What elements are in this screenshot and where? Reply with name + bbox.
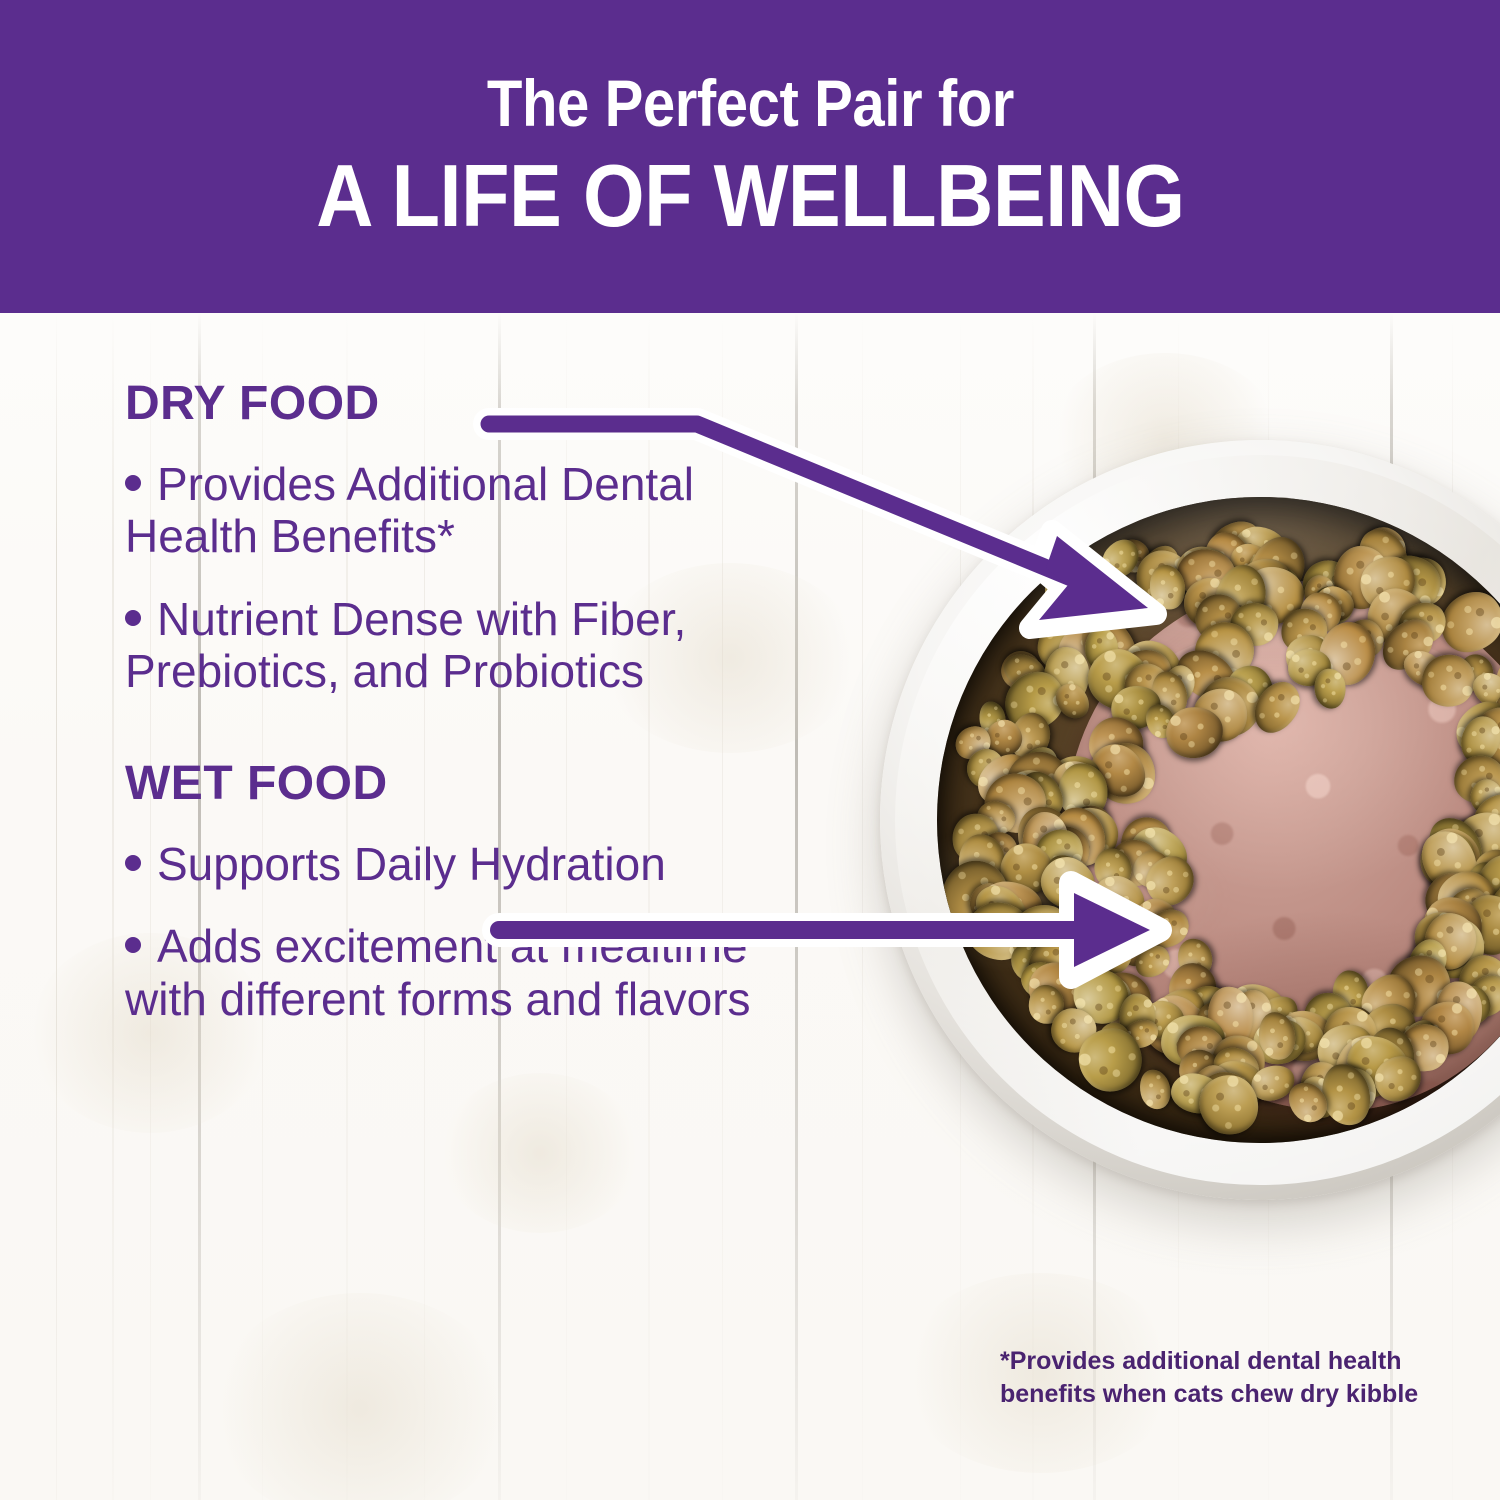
- promo-card: The Perfect Pair for A LIFE OF WELLBEING…: [0, 0, 1500, 1500]
- dry-food-bullets: Provides Additional Dental Health Benefi…: [125, 458, 805, 698]
- dry-food-section: DRY FOOD Provides Additional Dental Heal…: [125, 380, 805, 698]
- bullet-dot-icon: [125, 937, 141, 953]
- bullet-text: Supports Daily Hydration: [157, 838, 666, 890]
- bowl-interior: [937, 497, 1500, 1143]
- dry-food-heading: DRY FOOD: [125, 380, 805, 428]
- header-banner: The Perfect Pair for A LIFE OF WELLBEING: [0, 0, 1500, 313]
- bullet-dot-icon: [125, 610, 141, 626]
- wet-food-heading: WET FOOD: [125, 760, 805, 808]
- bullet-dot-icon: [125, 475, 141, 491]
- footnote-line-1: *Provides additional dental health: [1000, 1345, 1470, 1378]
- header-title: A LIFE OF WELLBEING: [316, 150, 1184, 242]
- list-item: Nutrient Dense with Fiber, Prebiotics, a…: [125, 593, 765, 698]
- bullet-text: Nutrient Dense with Fiber, Prebiotics, a…: [125, 593, 686, 697]
- list-item: Supports Daily Hydration: [125, 838, 765, 890]
- bullet-text: Adds excitement at mealtime with differe…: [125, 920, 751, 1024]
- footnote-line-2: benefits when cats chew dry kibble: [1000, 1378, 1470, 1411]
- header-subtitle: The Perfect Pair for: [486, 70, 1013, 136]
- benefits-copy: DRY FOOD Provides Additional Dental Heal…: [125, 380, 805, 1055]
- list-item: Adds excitement at mealtime with differe…: [125, 920, 765, 1025]
- bullet-text: Provides Additional Dental Health Benefi…: [125, 458, 694, 562]
- wet-food-section: WET FOOD Supports Daily Hydration Adds e…: [125, 760, 805, 1025]
- wet-food-bullets: Supports Daily Hydration Adds excitement…: [125, 838, 805, 1025]
- bullet-dot-icon: [125, 855, 141, 871]
- cat-food-bowl-photo: [880, 440, 1500, 1200]
- dental-benefits-footnote: *Provides additional dental health benef…: [1000, 1345, 1470, 1410]
- list-item: Provides Additional Dental Health Benefi…: [125, 458, 765, 563]
